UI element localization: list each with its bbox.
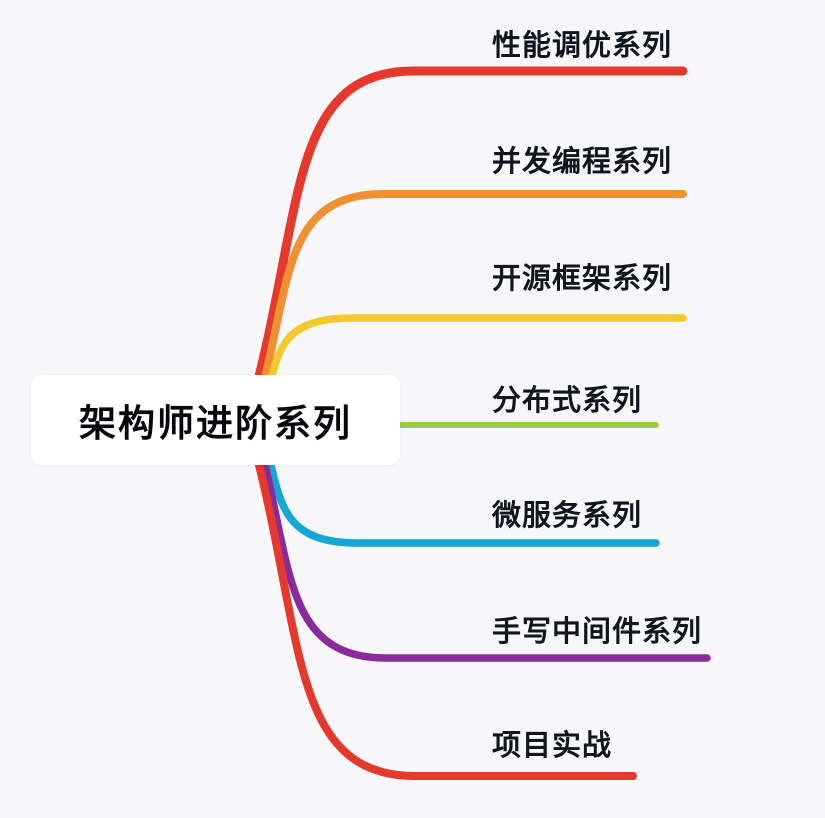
branch-label-performance[interactable]: 性能调优系列 xyxy=(492,22,672,64)
branch-label-concurrency[interactable]: 并发编程系列 xyxy=(492,138,672,180)
root-node-label: 架构师进阶系列 xyxy=(79,393,352,447)
branch-label-distributed[interactable]: 分布式系列 xyxy=(492,377,642,419)
branch-label-opensource[interactable]: 开源框架系列 xyxy=(492,255,672,297)
branch-label-microservice[interactable]: 微服务系列 xyxy=(492,492,642,534)
branch-label-project[interactable]: 项目实战 xyxy=(492,722,612,764)
branch-path-performance xyxy=(249,71,683,414)
mindmap-canvas: 架构师进阶系列 性能调优系列 并发编程系列 开源框架系列 分布式系列 微服务系列… xyxy=(0,0,825,818)
branch-label-middleware[interactable]: 手写中间件系列 xyxy=(492,608,702,650)
root-node[interactable]: 架构师进阶系列 xyxy=(31,375,400,465)
